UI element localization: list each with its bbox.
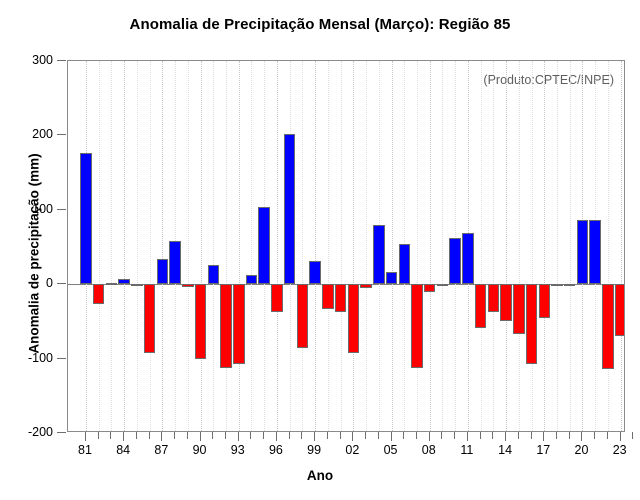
x-tick-mark [301, 432, 302, 439]
bar [462, 233, 474, 284]
x-tick-mark [174, 432, 175, 439]
bar [182, 284, 194, 287]
gridline-vertical-minor [251, 61, 252, 431]
gridline-vertical-minor [137, 61, 138, 431]
x-tick-mark [518, 432, 519, 439]
x-tick-mark [110, 432, 111, 439]
bar [93, 284, 105, 303]
bar [322, 284, 334, 309]
x-tick-label: 14 [498, 443, 512, 457]
x-tick-mark [441, 432, 442, 439]
gridline-vertical-minor [532, 61, 533, 431]
bar [475, 284, 487, 328]
gridline-vertical-minor [519, 61, 520, 431]
bar [424, 284, 436, 292]
bar [220, 284, 232, 368]
x-tick-mark [594, 432, 595, 439]
gridline-vertical [430, 61, 431, 431]
gridline-vertical-minor [328, 61, 329, 431]
gridline-vertical-minor [557, 61, 558, 431]
gridline-vertical-minor [188, 61, 189, 431]
x-tick-mark [480, 432, 481, 439]
bar [615, 284, 625, 336]
x-tick-mark [238, 432, 239, 441]
x-tick-label: 90 [193, 443, 207, 457]
x-tick-label: 20 [575, 443, 589, 457]
x-tick-mark [620, 432, 621, 441]
x-tick-mark [531, 432, 532, 439]
gridline-vertical-minor [366, 61, 367, 431]
x-tick-mark [212, 432, 213, 439]
bar [258, 207, 270, 284]
gridline-vertical-minor [150, 61, 151, 431]
bar [589, 220, 601, 284]
bar [271, 284, 283, 312]
bar [80, 153, 92, 284]
x-tick-mark [263, 432, 264, 439]
gridline-vertical-minor [99, 61, 100, 431]
gridline-vertical-minor [570, 61, 571, 431]
y-tick-label: 0 [46, 276, 53, 290]
x-tick-mark [632, 432, 633, 439]
bar [360, 284, 372, 288]
bar [526, 284, 538, 364]
x-tick-mark [314, 432, 315, 441]
bar [208, 265, 220, 284]
gridline-vertical-minor [608, 61, 609, 431]
gridline-vertical [392, 61, 393, 431]
x-tick-mark [352, 432, 353, 441]
bar [602, 284, 614, 369]
x-tick-mark [505, 432, 506, 441]
bar [513, 284, 525, 334]
x-tick-mark [365, 432, 366, 439]
y-tick-mark [57, 60, 66, 61]
y-tick-mark [57, 358, 66, 359]
bar [488, 284, 500, 312]
gridline-vertical-minor [493, 61, 494, 431]
x-tick-mark [200, 432, 201, 441]
x-tick-mark [123, 432, 124, 441]
bar [437, 284, 449, 286]
x-tick-mark [391, 432, 392, 441]
bar [284, 134, 296, 284]
gridline-vertical-minor [341, 61, 342, 431]
x-tick-mark [250, 432, 251, 439]
x-tick-mark [225, 432, 226, 439]
bar [500, 284, 512, 320]
x-tick-mark [161, 432, 162, 441]
bar [551, 284, 563, 286]
gridline-vertical [162, 61, 163, 431]
x-tick-label: 02 [345, 443, 359, 457]
x-tick-mark [136, 432, 137, 439]
y-tick-mark [57, 209, 66, 210]
x-tick-mark [454, 432, 455, 439]
bar [564, 284, 576, 286]
gridline-vertical [315, 61, 316, 431]
gridline-vertical [277, 61, 278, 431]
bar [106, 283, 118, 285]
x-tick-mark [98, 432, 99, 439]
bar [449, 238, 461, 284]
gridline-vertical-minor [417, 61, 418, 431]
x-tick-label: 93 [231, 443, 245, 457]
gridline-vertical [353, 61, 354, 431]
y-axis: Anomalia de precipitação (mm) 3002001000… [0, 0, 67, 500]
x-axis-title: Ano [0, 468, 640, 483]
y-axis-title: Anomalia de precipitação (mm) [27, 124, 42, 384]
bar [233, 284, 245, 364]
gridline-vertical [124, 61, 125, 431]
x-tick-mark [85, 432, 86, 441]
page-title: Anomalia de Precipitação Mensal (Março):… [0, 16, 640, 33]
gridline-vertical [239, 61, 240, 431]
x-tick-mark [149, 432, 150, 439]
x-tick-mark [556, 432, 557, 439]
bar [131, 284, 143, 286]
gridline-vertical [506, 61, 507, 431]
plot-area: (Produto:CPTEC/INPE) [67, 60, 625, 432]
x-tick-mark [340, 432, 341, 439]
x-tick-label: 99 [307, 443, 321, 457]
x-tick-mark [289, 432, 290, 439]
bar [297, 284, 309, 348]
x-tick-label: 81 [78, 443, 92, 457]
y-tick-label: -100 [28, 351, 53, 365]
x-tick-label: 84 [116, 443, 130, 457]
bar [246, 275, 258, 285]
x-tick-label: 08 [422, 443, 436, 457]
x-tick-mark [569, 432, 570, 439]
bar [386, 272, 398, 285]
bar [539, 284, 551, 318]
x-tick-label: 17 [536, 443, 550, 457]
x-tick-label: 05 [384, 443, 398, 457]
x-tick-mark [607, 432, 608, 439]
bar [144, 284, 156, 352]
x-tick-mark [429, 432, 430, 441]
gridline-vertical-minor [302, 61, 303, 431]
bar [411, 284, 423, 368]
bar [157, 259, 169, 284]
bar [118, 279, 130, 284]
gridline-vertical-minor [111, 61, 112, 431]
bar [169, 241, 181, 284]
y-tick-label: 100 [32, 202, 53, 216]
gridline-vertical-minor [226, 61, 227, 431]
x-tick-mark [543, 432, 544, 441]
y-tick-label: 300 [32, 53, 53, 67]
x-tick-mark [327, 432, 328, 439]
bar [195, 284, 207, 359]
bar [335, 284, 347, 312]
x-axis: Ano 818487909396990205081114172023 [0, 432, 640, 500]
gridline-vertical [201, 61, 202, 431]
bar [309, 261, 321, 284]
x-tick-label: 11 [460, 443, 473, 457]
y-tick-mark [57, 283, 66, 284]
gridline-vertical-minor [213, 61, 214, 431]
gridline-vertical [544, 61, 545, 431]
bar [373, 225, 385, 284]
bar [399, 244, 411, 284]
x-tick-label: 87 [154, 443, 168, 457]
x-tick-mark [416, 432, 417, 439]
bar [348, 284, 360, 353]
x-tick-label: 96 [269, 443, 283, 457]
x-tick-mark [467, 432, 468, 441]
y-tick-label: 200 [32, 127, 53, 141]
gridline-vertical-minor [481, 61, 482, 431]
x-tick-mark [581, 432, 582, 441]
x-tick-label: 23 [613, 443, 627, 457]
x-tick-mark [403, 432, 404, 439]
chart-root: Anomalia de Precipitação Mensal (Março):… [0, 0, 640, 500]
x-tick-mark [276, 432, 277, 441]
gridline-vertical [621, 61, 622, 431]
bar [577, 220, 589, 284]
y-tick-mark [57, 134, 66, 135]
x-tick-mark [378, 432, 379, 439]
x-tick-mark [187, 432, 188, 439]
x-tick-mark [492, 432, 493, 439]
gridline-vertical-minor [442, 61, 443, 431]
